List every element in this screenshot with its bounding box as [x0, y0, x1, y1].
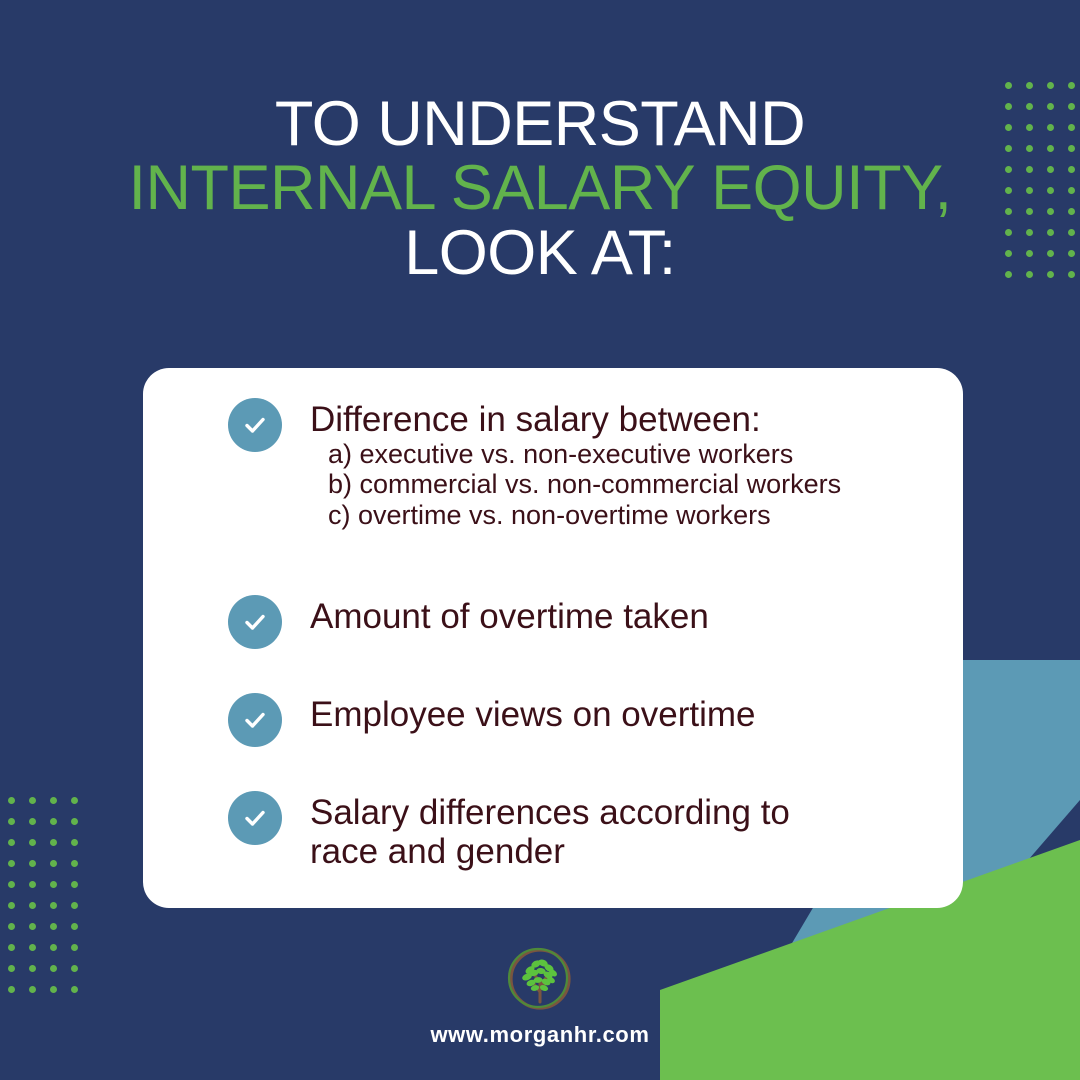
checklist-item: Employee views on overtime	[228, 693, 755, 747]
decorative-dot	[29, 965, 36, 972]
checklist-sub-item: a) executive vs. non-executive workers	[310, 439, 841, 469]
green-notch-shape	[782, 960, 815, 1080]
checklist-item: Difference in salary between: a) executi…	[228, 398, 841, 530]
decorative-dot	[8, 818, 15, 825]
decorative-dot	[71, 944, 78, 951]
decorative-dot	[50, 923, 57, 930]
decorative-dot	[8, 944, 15, 951]
check-icon	[228, 398, 282, 452]
decorative-dot	[29, 797, 36, 804]
decorative-dot	[29, 881, 36, 888]
decorative-dot	[71, 860, 78, 867]
morganhr-tree-logo	[503, 942, 577, 1016]
checklist-item-title: Difference in salary between:	[310, 400, 761, 439]
decorative-dot	[50, 818, 57, 825]
decorative-dot	[71, 818, 78, 825]
decorative-dot	[8, 860, 15, 867]
checklist-item: Amount of overtime taken	[228, 595, 709, 649]
headline-line-2: INTERNAL SALARY EQUITY,	[0, 156, 1080, 220]
decorative-dot	[1026, 82, 1033, 89]
checklist-card: Difference in salary between: a) executi…	[143, 368, 963, 908]
decorative-dot	[29, 923, 36, 930]
decorative-dot	[8, 923, 15, 930]
checklist-sub-item: b) commercial vs. non-commercial workers	[310, 469, 841, 499]
dot-grid-bottom-left	[8, 797, 92, 1007]
decorative-dot	[71, 965, 78, 972]
decorative-dot	[50, 902, 57, 909]
decorative-dot	[71, 839, 78, 846]
check-icon	[228, 791, 282, 845]
decorative-dot	[29, 902, 36, 909]
website-url[interactable]: www.morganhr.com	[0, 1022, 1080, 1048]
decorative-dot	[29, 944, 36, 951]
decorative-dot	[71, 986, 78, 993]
decorative-dot	[50, 881, 57, 888]
decorative-dot	[50, 860, 57, 867]
decorative-dot	[1005, 82, 1012, 89]
decorative-dot	[1068, 82, 1075, 89]
headline-line-1: TO UNDERSTAND	[0, 92, 1080, 156]
decorative-dot	[71, 902, 78, 909]
headline-line-3: LOOK AT:	[0, 221, 1080, 285]
decorative-dot	[71, 881, 78, 888]
decorative-dot	[29, 986, 36, 993]
check-icon	[228, 693, 282, 747]
decorative-dot	[29, 860, 36, 867]
decorative-dot	[50, 839, 57, 846]
page-title: TO UNDERSTAND INTERNAL SALARY EQUITY, LO…	[0, 92, 1080, 285]
check-icon	[228, 595, 282, 649]
decorative-dot	[71, 923, 78, 930]
decorative-dot	[1047, 82, 1054, 89]
decorative-dot	[50, 986, 57, 993]
decorative-dot	[29, 839, 36, 846]
checklist-sub-list: a) executive vs. non-executive workers b…	[310, 439, 841, 530]
decorative-dot	[8, 902, 15, 909]
decorative-dot	[50, 965, 57, 972]
decorative-dot	[8, 839, 15, 846]
checklist-item: Salary differences according to race and…	[228, 791, 790, 871]
decorative-dot	[50, 944, 57, 951]
checklist-sub-item: c) overtime vs. non-overtime workers	[310, 500, 841, 530]
decorative-dot	[8, 986, 15, 993]
checklist-item-title: Amount of overtime taken	[310, 597, 709, 636]
decorative-dot	[29, 818, 36, 825]
decorative-dot	[71, 797, 78, 804]
decorative-dot	[8, 881, 15, 888]
decorative-dot	[8, 797, 15, 804]
checklist-item-title: Salary differences according to race and…	[310, 793, 790, 871]
poster-canvas: TO UNDERSTAND INTERNAL SALARY EQUITY, LO…	[0, 0, 1080, 1080]
checklist-item-title: Employee views on overtime	[310, 695, 755, 734]
decorative-dot	[8, 965, 15, 972]
decorative-dot	[50, 797, 57, 804]
